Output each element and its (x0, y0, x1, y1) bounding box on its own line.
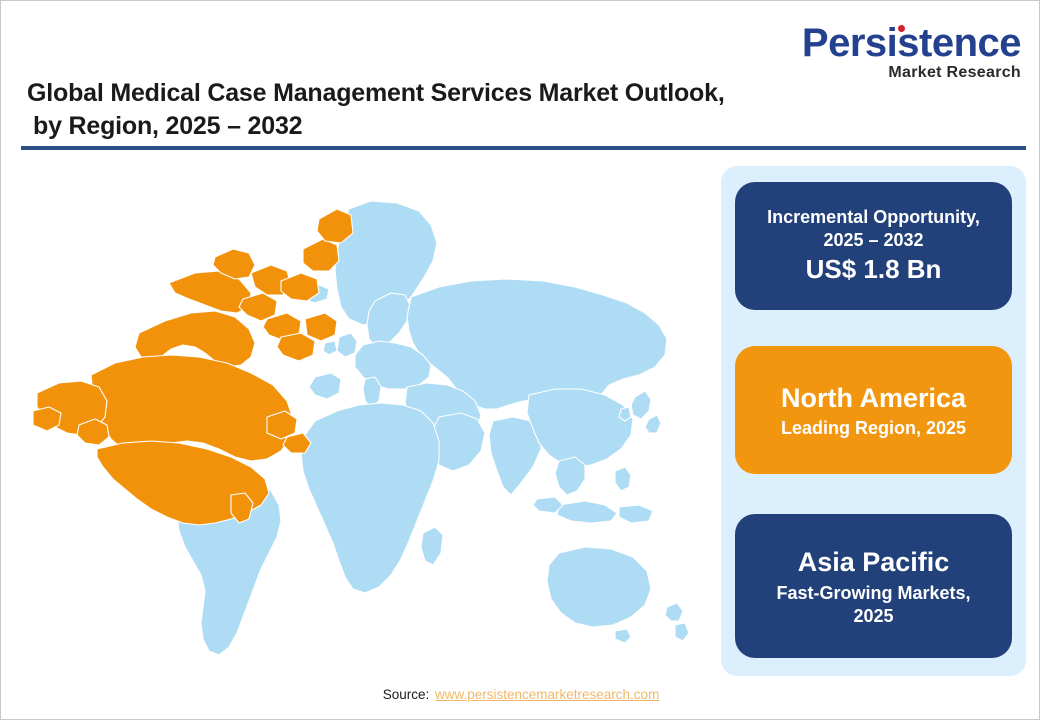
source-url-link[interactable]: www.persistencemarketresearch.com (435, 687, 659, 702)
page-title-line-1: Global Medical Case Management Services … (27, 77, 847, 110)
incremental-opportunity-value: US$ 1.8 Bn (806, 253, 942, 287)
incremental-opportunity-period: 2025 – 2032 (823, 229, 923, 252)
logo-brand-text: Persistence (802, 23, 1021, 63)
incremental-opportunity-card[interactable]: Incremental Opportunity, 2025 – 2032 US$… (735, 182, 1012, 310)
fast-growing-region-label: Fast-Growing Markets, (776, 582, 970, 605)
page-title-line-2: by Region, 2025 – 2032 (27, 110, 847, 143)
leading-region-name: North America (781, 381, 966, 416)
red-dot-icon (898, 25, 905, 32)
source-label: Source: (383, 687, 430, 702)
logo-brand-label: Persistence (802, 21, 1021, 65)
infographic-frame: Persistence Market Research Global Medic… (0, 0, 1040, 720)
leading-region-label: Leading Region, 2025 (781, 417, 966, 440)
leading-region-card[interactable]: North America Leading Region, 2025 (735, 346, 1012, 474)
page-title: Global Medical Case Management Services … (27, 77, 847, 143)
incremental-opportunity-label: Incremental Opportunity, (767, 206, 980, 229)
world-map (19, 161, 709, 671)
highlights-panel: Incremental Opportunity, 2025 – 2032 US$… (721, 166, 1026, 676)
fast-growing-region-card[interactable]: Asia Pacific Fast-Growing Markets, 2025 (735, 514, 1012, 658)
title-divider (21, 146, 1026, 150)
source-line: Source: www.persistencemarketresearch.co… (1, 687, 1040, 702)
fast-growing-region-year: 2025 (853, 605, 893, 628)
company-logo: Persistence Market Research (802, 23, 1021, 81)
fast-growing-region-name: Asia Pacific (798, 545, 950, 580)
world-map-svg (19, 161, 709, 671)
